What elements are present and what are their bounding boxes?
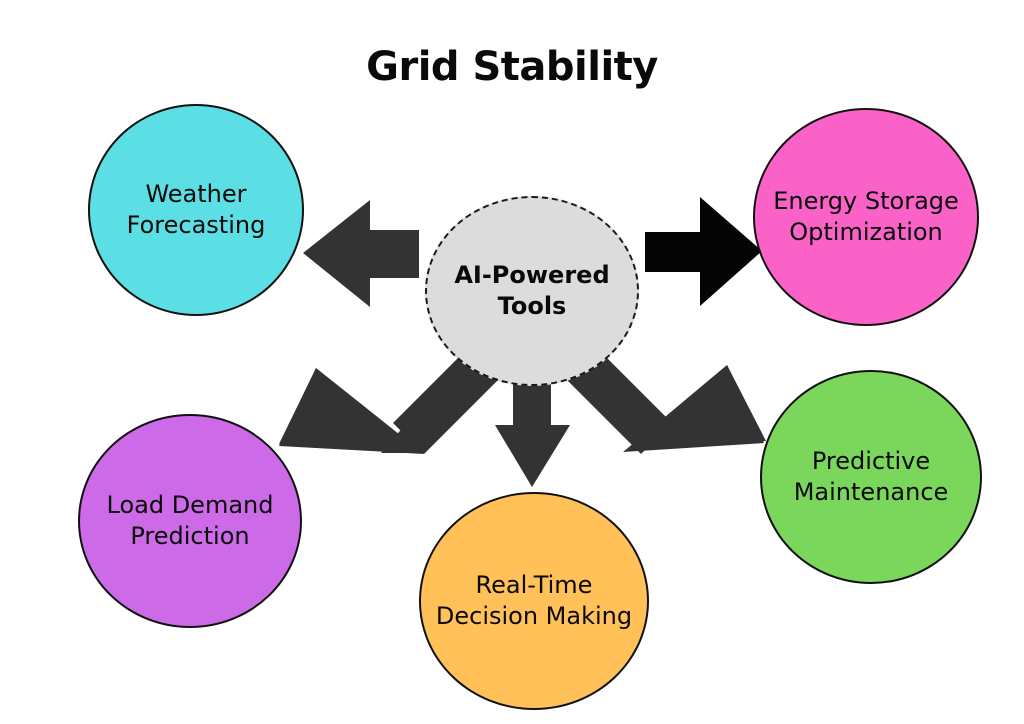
node-predictive-maintenance[interactable]: Predictive Maintenance	[760, 370, 982, 584]
node-energy-storage-optimization[interactable]: Energy Storage Optimization	[753, 108, 979, 326]
arrow-to-real-time-icon	[495, 381, 570, 487]
node-weather-forecasting-label: Weather Forecasting	[121, 179, 272, 240]
node-predictive-maintenance-label: Predictive Maintenance	[788, 446, 955, 507]
node-real-time-decision-making[interactable]: Real-Time Decision Making	[419, 492, 649, 710]
node-ai-powered-tools-label: AI-Powered Tools	[448, 260, 615, 321]
diagram-canvas: Grid Stability Weather Forecasting	[0, 0, 1024, 724]
node-energy-storage-optimization-label: Energy Storage Optimization	[767, 186, 965, 247]
node-load-demand-prediction[interactable]: Load Demand Prediction	[78, 414, 302, 628]
arrow-to-energy-storage-icon	[645, 197, 762, 306]
node-load-demand-prediction-label: Load Demand Prediction	[101, 490, 280, 551]
arrow-to-weather-icon	[303, 200, 419, 307]
diagram-title: Grid Stability	[0, 44, 1024, 90]
node-weather-forecasting[interactable]: Weather Forecasting	[88, 104, 304, 316]
node-real-time-decision-making-label: Real-Time Decision Making	[430, 570, 638, 631]
node-ai-powered-tools[interactable]: AI-Powered Tools	[425, 196, 639, 386]
